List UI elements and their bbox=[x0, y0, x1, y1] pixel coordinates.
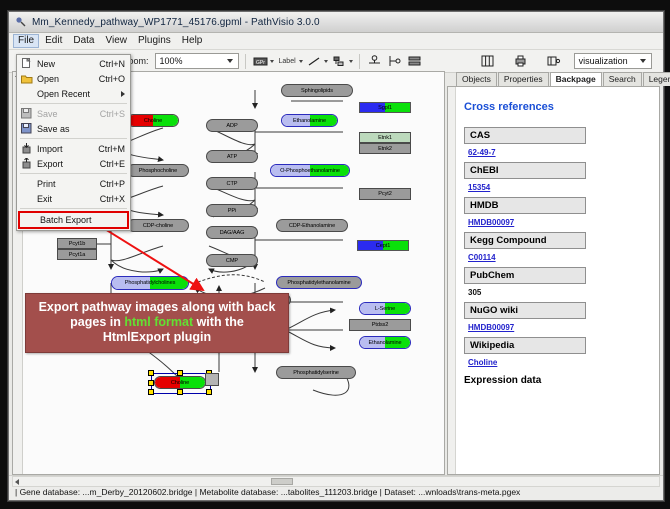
pathway-metabolite-node[interactable]: Phosphatidylcholines bbox=[111, 276, 189, 290]
pathway-metabolite-node[interactable]: CMP bbox=[206, 254, 258, 267]
xref-value: 305 bbox=[464, 284, 649, 297]
chevron-down-icon bbox=[225, 54, 236, 68]
interaction-icon bbox=[331, 53, 348, 70]
menu-item-accel: Ctrl+O bbox=[99, 74, 130, 84]
zoom-combo[interactable]: 100% bbox=[155, 53, 239, 69]
xref-link[interactable]: HMDB00097 bbox=[468, 323, 514, 332]
chevron-down-icon bbox=[299, 60, 303, 63]
chevron-down-icon bbox=[270, 60, 274, 63]
node-label: Choline bbox=[171, 380, 189, 386]
expression-data-title: Expression data bbox=[464, 375, 649, 386]
line-icon bbox=[306, 53, 323, 70]
export-icon bbox=[19, 157, 34, 170]
selection-handle[interactable] bbox=[148, 380, 154, 386]
tab-objects[interactable]: Objects bbox=[456, 72, 497, 86]
menu-item-label: Export bbox=[37, 159, 100, 169]
menu-item-no-icon bbox=[19, 192, 34, 205]
node-label: Pcyt1b bbox=[69, 241, 86, 247]
menu-item-exit[interactable]: ExitCtrl+X bbox=[17, 191, 130, 206]
pathway-metabolite-node[interactable]: Phosphocholine bbox=[127, 164, 189, 177]
toolbar-separator bbox=[245, 54, 246, 69]
sidepanel-tool[interactable] bbox=[545, 53, 562, 70]
pathway-metabolite-node[interactable]: DAG/AAG bbox=[206, 226, 258, 239]
node-label: Cept1 bbox=[376, 243, 390, 249]
xref-source-label: CAS bbox=[464, 127, 586, 144]
pathway-metabolite-node[interactable]: ATP bbox=[206, 150, 258, 163]
pathvisio-icon bbox=[15, 16, 27, 28]
pathway-metabolite-node[interactable]: CTP bbox=[206, 177, 258, 190]
toolbar-separator bbox=[359, 54, 360, 69]
menu-help[interactable]: Help bbox=[177, 34, 208, 48]
node-label: ATP bbox=[227, 154, 237, 160]
menu-data[interactable]: Data bbox=[68, 34, 99, 48]
chevron-down-icon bbox=[324, 60, 328, 63]
visualization-combo[interactable]: visualization bbox=[574, 53, 652, 69]
xref-block: WikipediaCholine bbox=[464, 337, 649, 367]
pathway-gene-node[interactable]: Pcyt1a bbox=[57, 249, 97, 260]
xref-value[interactable]: C00114 bbox=[464, 249, 649, 262]
submenu-arrow-icon bbox=[121, 91, 125, 97]
line-tool[interactable] bbox=[306, 53, 328, 70]
menu-separator bbox=[20, 208, 127, 209]
xref-block: ChEBI15354 bbox=[464, 162, 649, 192]
pathway-gene-node[interactable]: Pcyt2 bbox=[359, 188, 411, 200]
pathway-metabolite-node[interactable]: CDP-Ethanolamine bbox=[276, 219, 348, 232]
status-text: | Gene database: ...m_Derby_20120602.bri… bbox=[15, 487, 520, 497]
menu-item-accel: Ctrl+N bbox=[99, 59, 130, 69]
tab-backpage[interactable]: Backpage bbox=[550, 72, 602, 87]
menu-separator bbox=[20, 173, 127, 174]
node-label: CMP bbox=[226, 258, 238, 264]
sidebar-scrollbar[interactable] bbox=[448, 87, 456, 474]
title-bar: Mm_Kennedy_pathway_WP1771_45176.gpml - P… bbox=[9, 12, 663, 33]
pathway-metabolite-node[interactable]: L-Serine bbox=[359, 302, 411, 315]
pathway-gene-node[interactable]: Pcyt1b bbox=[57, 238, 97, 249]
xref-source-label: Wikipedia bbox=[464, 337, 586, 354]
node-label: Pcyt2 bbox=[378, 191, 392, 197]
open-folder-icon bbox=[19, 72, 34, 85]
node-label: Ptdss2 bbox=[372, 322, 389, 328]
pathway-gene-node[interactable]: Cept1 bbox=[357, 240, 409, 251]
columns-tool[interactable] bbox=[479, 53, 496, 70]
cross-references-title: Cross references bbox=[464, 101, 649, 113]
menu-edit[interactable]: Edit bbox=[40, 34, 67, 48]
gene-product-icon: GPr bbox=[252, 53, 269, 70]
selection-handle[interactable] bbox=[177, 389, 183, 395]
menu-item-no-icon bbox=[19, 87, 34, 100]
window-title: Mm_Kennedy_pathway_WP1771_45176.gpml - P… bbox=[32, 17, 320, 28]
callout-line-2a: pages in bbox=[70, 315, 124, 329]
xref-source-label: PubChem bbox=[464, 267, 586, 284]
pathway-metabolite-node[interactable]: CDP-choline bbox=[127, 219, 189, 232]
menu-item-accel: Ctrl+P bbox=[100, 179, 130, 189]
annotation-callout: Export pathway images along with back pa… bbox=[25, 293, 289, 353]
menu-item-import[interactable]: ImportCtrl+M bbox=[17, 141, 130, 156]
import-icon bbox=[19, 142, 34, 155]
svg-text:GPr: GPr bbox=[256, 60, 265, 66]
pathway-metabolite-node[interactable]: Phosphatidylethanolamine bbox=[276, 276, 362, 289]
pathway-metabolite-node[interactable]: Phosphatidylserine bbox=[276, 366, 356, 379]
node-label: ADP bbox=[226, 123, 237, 129]
interaction-tool[interactable] bbox=[331, 53, 353, 70]
menu-item-accel: Ctrl+M bbox=[98, 144, 130, 154]
cross-reference-list: CAS62-49-7ChEBI15354HMDBHMDB00097Kegg Co… bbox=[460, 127, 649, 367]
xref-block: HMDBHMDB00097 bbox=[464, 197, 649, 227]
menu-item-accel: Ctrl+X bbox=[100, 194, 130, 204]
node-label: PPi bbox=[228, 208, 236, 214]
save-disk-icon bbox=[19, 107, 34, 120]
xref-value[interactable]: 62-49-7 bbox=[464, 144, 649, 157]
menu-item-batch-export[interactable]: Batch Export bbox=[20, 213, 127, 227]
node-label: CDP-Ethanolamine bbox=[289, 223, 335, 229]
callout-line-2: pages in html format with the bbox=[32, 315, 282, 330]
pathway-metabolite-node[interactable]: PPi bbox=[206, 204, 258, 217]
selection-handle[interactable] bbox=[148, 370, 154, 376]
xref-block: PubChem305 bbox=[464, 267, 649, 297]
label-tool-label: Label bbox=[277, 58, 298, 65]
pathway-metabolite-node[interactable]: Ethanolamine bbox=[281, 114, 338, 127]
print-tool[interactable] bbox=[512, 53, 529, 70]
pathway-metabolite-node[interactable]: O-Phosphoethanolamine bbox=[270, 164, 350, 177]
menu-item-label: Open bbox=[37, 74, 99, 84]
backpage-content: Cross references CAS62-49-7ChEBI15354HMD… bbox=[447, 86, 660, 475]
xref-link[interactable]: 62-49-7 bbox=[468, 148, 496, 157]
align-vertical-tool[interactable] bbox=[366, 53, 383, 70]
menu-file[interactable]: File bbox=[13, 34, 39, 48]
menu-item-label: Open Recent bbox=[37, 89, 125, 99]
menu-item-print[interactable]: PrintCtrl+P bbox=[17, 176, 130, 191]
pathway-metabolite-node[interactable]: Sphingolipids bbox=[281, 84, 353, 97]
node-label: DAG/AAG bbox=[220, 230, 245, 236]
label-tool[interactable]: Label bbox=[277, 58, 303, 65]
tab-properties[interactable]: Properties bbox=[498, 72, 549, 86]
xref-block: NuGO wikiHMDB00097 bbox=[464, 302, 649, 332]
menu-bar: File Edit Data View Plugins Help bbox=[9, 33, 663, 50]
gene-product-tool[interactable]: GPr bbox=[252, 53, 274, 70]
menu-item-accel: Ctrl+S bbox=[100, 109, 130, 119]
tab-search[interactable]: Search bbox=[603, 72, 642, 86]
chevron-down-icon bbox=[638, 54, 649, 68]
batch-export-icon bbox=[22, 214, 37, 227]
pathway-metabolite-node[interactable]: Choline bbox=[127, 114, 179, 127]
selection-handle[interactable] bbox=[206, 389, 212, 395]
xref-value[interactable]: HMDB00097 bbox=[464, 319, 649, 332]
pathway-metabolite-node[interactable]: ADP bbox=[206, 119, 258, 132]
menu-item-label: Save as bbox=[37, 124, 125, 134]
sidebar-panel: Objects Properties Backpage Search Legen… bbox=[447, 71, 660, 475]
zoom-value: 100% bbox=[160, 56, 183, 66]
pathway-gene-node[interactable]: Etnk2 bbox=[359, 143, 411, 154]
menu-item-accel: Ctrl+E bbox=[100, 159, 130, 169]
node-label: Sphingolipids bbox=[301, 88, 333, 94]
node-label: L-Serine bbox=[375, 306, 395, 312]
pathvisio-window: Mm_Kennedy_pathway_WP1771_45176.gpml - P… bbox=[8, 11, 664, 501]
xref-source-label: HMDB bbox=[464, 197, 586, 214]
callout-line-2b: with the bbox=[193, 315, 244, 329]
xref-source-label: NuGO wiki bbox=[464, 302, 586, 319]
xref-block: Kegg CompoundC00114 bbox=[464, 232, 649, 262]
canvas-horizontal-scrollbar[interactable] bbox=[12, 476, 660, 487]
pathway-gene-node[interactable]: Sgpl1 bbox=[359, 102, 411, 113]
node-label: CDP-choline bbox=[143, 223, 173, 229]
xref-value[interactable]: HMDB00097 bbox=[464, 214, 649, 227]
menu-separator bbox=[20, 138, 127, 139]
xref-value[interactable]: Choline bbox=[464, 354, 649, 367]
xref-link[interactable]: C00114 bbox=[468, 253, 496, 262]
menu-item-save: SaveCtrl+S bbox=[17, 106, 130, 121]
pathway-gene-node[interactable]: Etnk1 bbox=[359, 132, 411, 143]
node-label: Etnk2 bbox=[378, 146, 392, 152]
chevron-down-icon bbox=[349, 60, 353, 63]
menu-separator bbox=[20, 103, 127, 104]
tab-legend[interactable]: Legend bbox=[643, 72, 670, 86]
scroll-thumb[interactable] bbox=[271, 478, 293, 485]
menu-view[interactable]: View bbox=[100, 34, 132, 48]
node-label: Ethanolamine bbox=[293, 118, 326, 124]
visualization-value: visualization bbox=[579, 56, 628, 66]
node-label: Sgpl1 bbox=[378, 105, 392, 111]
menu-item-label: Save bbox=[37, 109, 100, 119]
menu-item-open[interactable]: OpenCtrl+O bbox=[17, 71, 130, 86]
node-label: Choline bbox=[144, 118, 162, 124]
node-label: CTP bbox=[227, 181, 238, 187]
callout-line-1: Export pathway images along with back bbox=[32, 300, 282, 315]
pathway-metabolite-node[interactable]: Ethanolamine bbox=[359, 336, 411, 349]
node-label: Ethanolamine bbox=[368, 340, 401, 346]
menu-item-label: Print bbox=[37, 179, 100, 189]
xref-value[interactable]: 15354 bbox=[464, 179, 649, 192]
callout-highlight: html format bbox=[124, 315, 193, 329]
selection-handle[interactable] bbox=[177, 370, 183, 376]
scroll-left-icon bbox=[15, 479, 19, 485]
selection-handle[interactable] bbox=[148, 389, 154, 395]
xref-link[interactable]: HMDB00097 bbox=[468, 218, 514, 227]
xref-link[interactable]: 15354 bbox=[468, 183, 490, 192]
node-label: Etnk1 bbox=[378, 135, 392, 141]
node-label: Phosphocholine bbox=[139, 168, 177, 174]
xref-source-label: ChEBI bbox=[464, 162, 586, 179]
menu-item-no-icon bbox=[19, 177, 34, 190]
xref-source-label: Kegg Compound bbox=[464, 232, 586, 249]
menu-plugins[interactable]: Plugins bbox=[133, 34, 176, 48]
status-bar: | Gene database: ...m_Derby_20120602.bri… bbox=[9, 475, 663, 500]
menu-item-export[interactable]: ExportCtrl+E bbox=[17, 156, 130, 171]
pathway-gene-node[interactable]: Ptdss2 bbox=[349, 319, 411, 331]
menu-item-label: New bbox=[37, 59, 99, 69]
menu-item-new[interactable]: NewCtrl+N bbox=[17, 56, 130, 71]
node-label: Phosphatidylserine bbox=[293, 370, 338, 376]
node-label: Pcyt1a bbox=[69, 252, 86, 258]
anchor-box[interactable] bbox=[205, 373, 219, 386]
node-label: Phosphatidylethanolamine bbox=[287, 280, 350, 286]
menu-item-open-recent[interactable]: Open Recent bbox=[17, 86, 130, 101]
xref-link[interactable]: Choline bbox=[468, 358, 497, 367]
menu-item-label: Exit bbox=[37, 194, 100, 204]
callout-line-3: HtmlExport plugin bbox=[32, 330, 282, 345]
save-as-icon bbox=[19, 122, 34, 135]
align-left-tool[interactable] bbox=[386, 53, 403, 70]
menu-item-label: Import bbox=[37, 144, 98, 154]
node-label: O-Phosphoethanolamine bbox=[280, 168, 340, 174]
batch-export-highlight: Batch Export bbox=[18, 211, 129, 229]
new-document-icon bbox=[19, 57, 34, 70]
menu-item-label: Batch Export bbox=[40, 215, 122, 225]
sidebar-tabstrip: Objects Properties Backpage Search Legen… bbox=[447, 71, 660, 86]
xref-block: CAS62-49-7 bbox=[464, 127, 649, 157]
menu-item-save-as[interactable]: Save as bbox=[17, 121, 130, 136]
node-label: Phosphatidylcholines bbox=[125, 280, 176, 286]
file-menu-dropdown[interactable]: NewCtrl+NOpenCtrl+OOpen RecentSaveCtrl+S… bbox=[16, 54, 131, 231]
stack-tool[interactable] bbox=[406, 53, 423, 70]
